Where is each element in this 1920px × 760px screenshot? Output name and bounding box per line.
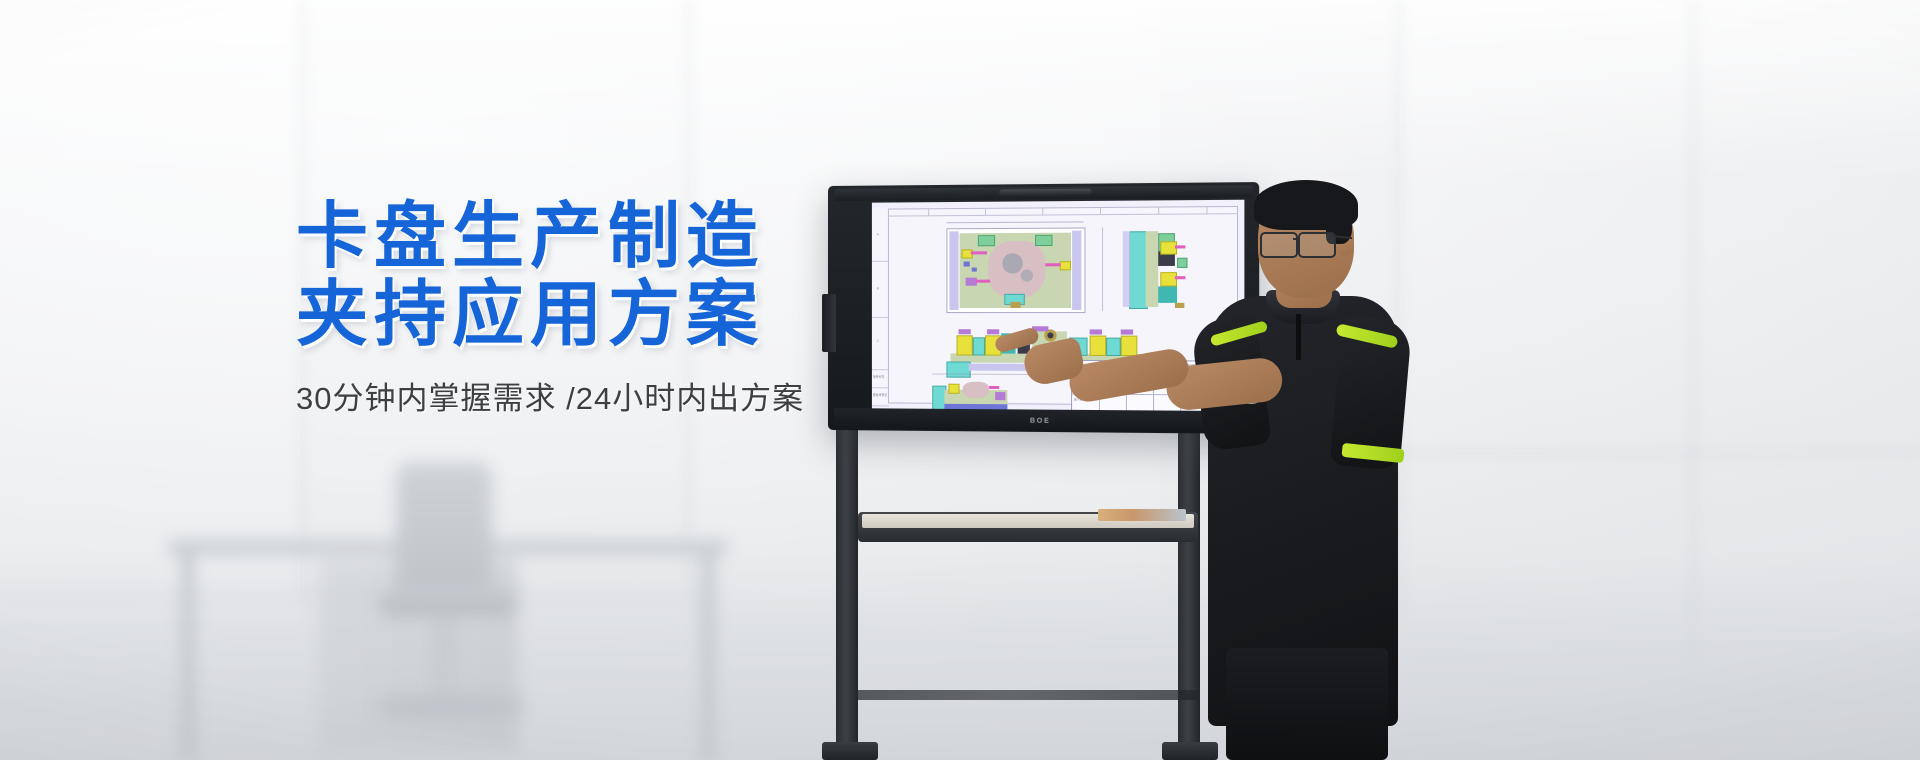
- presenter: 大禾: [1140, 178, 1440, 760]
- presenter-glasses-bridge: [1293, 238, 1300, 240]
- view-top: [946, 227, 1085, 313]
- display-side-port: [822, 294, 836, 352]
- drawing-mark-c: C: [877, 339, 879, 343]
- boe-brand-logo: BOE: [1030, 418, 1051, 425]
- stand-foot-left: [822, 742, 878, 760]
- stand-column-left: [836, 430, 858, 760]
- drawing-note-2: 更改单登记: [873, 393, 887, 397]
- camera-strip: [999, 189, 1091, 196]
- presenter-hip: [1226, 648, 1388, 760]
- office-chair: [370, 462, 540, 760]
- presenter-glasses-left-lens: [1260, 232, 1298, 258]
- view-iso: [932, 380, 1019, 411]
- hero-banner: 卡盘生产制造 夹持应用方案 30分钟内掌握需求 /24小时内出方案: [0, 0, 1920, 760]
- wall-panel-left: [0, 0, 300, 620]
- wall-panel-right: [1400, 0, 1920, 640]
- drawing-mark-b: B: [877, 287, 879, 291]
- presenter-placket: [1296, 314, 1301, 360]
- drawing-mark-a: A: [877, 233, 879, 237]
- drawing-note-1: 零件代号: [873, 375, 885, 379]
- wall-baseline: [1400, 452, 1920, 455]
- dimension-line-side: [1102, 227, 1103, 311]
